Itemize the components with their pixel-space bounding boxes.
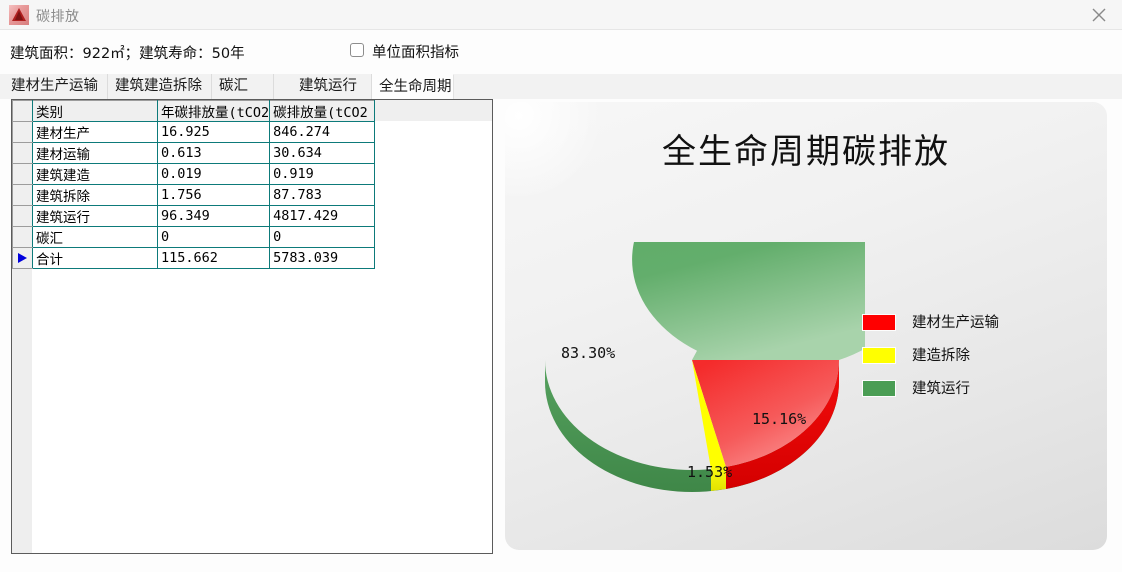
checkbox-unchecked-icon[interactable]	[350, 43, 364, 57]
cell-total[interactable]: 4817.429	[270, 206, 375, 227]
cell-annual[interactable]: 0	[158, 227, 270, 248]
cell-category[interactable]: 建材运输	[33, 143, 158, 164]
cell-category[interactable]: 建筑建造	[33, 164, 158, 185]
legend-swatch-green	[862, 380, 896, 397]
cell-total[interactable]: 0	[270, 227, 375, 248]
cell-category[interactable]: 建筑运行	[33, 206, 158, 227]
cell-total[interactable]: 846.274	[270, 122, 375, 143]
legend-label-construction-demolition: 建造拆除	[912, 344, 970, 365]
legend-label-material-production-transport: 建材生产运输	[912, 311, 999, 332]
tab-4[interactable]: 全生命周期	[372, 74, 454, 99]
pie-label-building-operation: 83.30%	[561, 344, 615, 362]
cell-category[interactable]: 建材生产	[33, 122, 158, 143]
emissions-table-panel: 类别 年碳排放量(tCO2 碳排放量(tCO2 建材生产16.925846.27…	[11, 99, 493, 554]
legend-swatch-red	[862, 314, 896, 331]
row-marker-cell[interactable]	[13, 164, 33, 185]
tab-0[interactable]: 建材生产运输	[4, 74, 108, 99]
legend-swatch-yellow	[862, 347, 896, 364]
pie-label-material-production-transport: 15.16%	[752, 410, 806, 428]
building-info-text: 建筑面积：922㎡；建筑寿命：50年	[10, 42, 245, 63]
row-marker-cell[interactable]	[13, 206, 33, 227]
tab-2[interactable]: 碳汇	[212, 74, 274, 99]
pie-chart: 83.30% 15.16% 1.53%	[525, 242, 865, 512]
table-header-row: 类别 年碳排放量(tCO2 碳排放量(tCO2	[13, 101, 375, 122]
cell-total[interactable]: 87.783	[270, 185, 375, 206]
table-row[interactable]: 建材生产16.925846.274	[13, 122, 375, 143]
table-row[interactable]: 建筑运行96.3494817.429	[13, 206, 375, 227]
table-row[interactable]: 碳汇00	[13, 227, 375, 248]
cell-category[interactable]: 碳汇	[33, 227, 158, 248]
chart-title: 全生命周期碳排放	[505, 124, 1107, 173]
tabstrip: 建材生产运输建筑建造拆除碳汇建筑运行全生命周期	[0, 74, 1122, 99]
autocad-triangle-icon	[9, 5, 29, 25]
pie-slice-building-operation	[632, 242, 865, 360]
row-marker-cell[interactable]	[13, 143, 33, 164]
header-marker-cell	[13, 101, 33, 122]
cell-annual[interactable]: 96.349	[158, 206, 270, 227]
row-marker-cell[interactable]	[13, 248, 33, 269]
column-header-total[interactable]: 碳排放量(tCO2	[270, 101, 375, 122]
close-icon[interactable]	[1076, 0, 1122, 30]
column-header-category[interactable]: 类别	[33, 101, 158, 122]
row-marker-cell[interactable]	[13, 227, 33, 248]
unit-area-indicator-label: 单位面积指标	[372, 41, 459, 62]
window-titlebar: 碳排放	[0, 0, 1122, 30]
pie-label-construction-demolition: 1.53%	[687, 463, 732, 481]
cell-category[interactable]: 合计	[33, 248, 158, 269]
cell-category[interactable]: 建筑拆除	[33, 185, 158, 206]
info-row: 建筑面积：922㎡；建筑寿命：50年 单位面积指标	[0, 30, 1122, 72]
table-row[interactable]: 建筑建造0.0190.919	[13, 164, 375, 185]
row-marker-cell[interactable]	[13, 122, 33, 143]
table-row[interactable]: 建材运输0.61330.634	[13, 143, 375, 164]
cell-annual[interactable]: 115.662	[158, 248, 270, 269]
row-selected-triangle-icon	[18, 253, 27, 263]
legend-label-building-operation: 建筑运行	[912, 377, 970, 398]
table-row[interactable]: 建筑拆除1.75687.783	[13, 185, 375, 206]
tab-1[interactable]: 建筑建造拆除	[108, 74, 212, 99]
lifecycle-chart-panel: 全生命周期碳排放	[505, 102, 1107, 550]
cell-total[interactable]: 0.919	[270, 164, 375, 185]
column-header-annual[interactable]: 年碳排放量(tCO2	[158, 101, 270, 122]
cell-annual[interactable]: 0.613	[158, 143, 270, 164]
cell-total[interactable]: 5783.039	[270, 248, 375, 269]
row-marker-cell[interactable]	[13, 185, 33, 206]
cell-annual[interactable]: 1.756	[158, 185, 270, 206]
table-row[interactable]: 合计115.6625783.039	[13, 248, 375, 269]
emissions-table[interactable]: 类别 年碳排放量(tCO2 碳排放量(tCO2 建材生产16.925846.27…	[12, 100, 375, 269]
cell-annual[interactable]: 0.019	[158, 164, 270, 185]
window-title: 碳排放	[36, 6, 80, 26]
tab-3[interactable]: 建筑运行	[292, 74, 372, 99]
cell-total[interactable]: 30.634	[270, 143, 375, 164]
cell-annual[interactable]: 16.925	[158, 122, 270, 143]
